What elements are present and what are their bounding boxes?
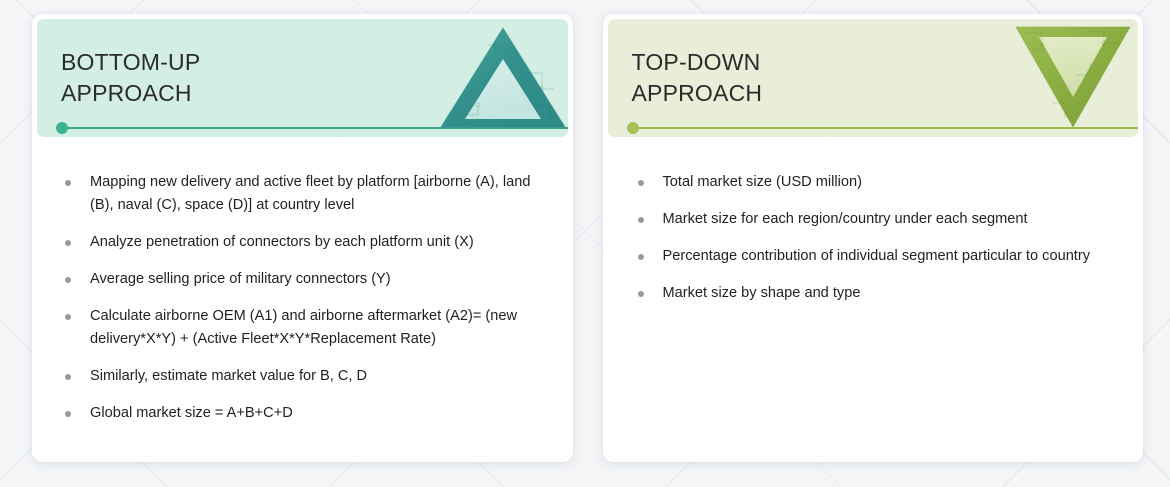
list-item: Total market size (USD million) [633, 171, 1114, 194]
panel-top-down-title: TOP-DOWN APPROACH [632, 47, 763, 109]
list-item: Mapping new delivery and active fleet by… [60, 171, 539, 217]
bullet-dot-icon [65, 411, 71, 417]
list-item-text: Mapping new delivery and active fleet by… [90, 174, 530, 213]
list-item-text: Market size for each region/country unde… [663, 211, 1028, 227]
list-item: Market size for each region/country unde… [633, 208, 1114, 231]
panel-top-down: TOP-DOWN APPROACH [603, 14, 1144, 462]
panel-bottom-up-title: BOTTOM-UP APPROACH [61, 47, 200, 109]
accent-dot-icon [627, 122, 639, 134]
panel-top-down-body: Total market size (USD million) Market s… [603, 137, 1144, 462]
panel-bottom-up-body: Mapping new delivery and active fleet by… [32, 137, 573, 462]
list-item: Market size by shape and type [633, 282, 1114, 305]
list-item-text: Total market size (USD million) [663, 174, 863, 190]
list-item-text: Global market size = A+B+C+D [90, 405, 293, 421]
bullet-dot-icon [638, 291, 644, 297]
panel-bottom-up-header: BOTTOM-UP APPROACH [37, 19, 568, 137]
bottom-up-bullet-list: Mapping new delivery and active fleet by… [60, 171, 539, 425]
bullet-dot-icon [638, 217, 644, 223]
approach-comparison-board: BOTTOM-UP APPROACH [0, 0, 1170, 487]
panel-top-down-header: TOP-DOWN APPROACH [608, 19, 1139, 137]
bullet-dot-icon [65, 374, 71, 380]
list-item: Similarly, estimate market value for B, … [60, 365, 539, 388]
bullet-dot-icon [65, 314, 71, 320]
list-item: Percentage contribution of individual se… [633, 245, 1114, 268]
top-down-bullet-list: Total market size (USD million) Market s… [633, 171, 1114, 305]
list-item-text: Analyze penetration of connectors by eac… [90, 234, 474, 250]
list-item: Calculate airborne OEM (A1) and airborne… [60, 305, 539, 351]
bullet-dot-icon [65, 180, 71, 186]
list-item: Global market size = A+B+C+D [60, 402, 539, 425]
bullet-dot-icon [65, 240, 71, 246]
list-item-text: Market size by shape and type [663, 285, 861, 301]
list-item: Average selling price of military connec… [60, 268, 539, 291]
list-item-text: Percentage contribution of individual se… [663, 248, 1091, 264]
list-item-text: Similarly, estimate market value for B, … [90, 368, 367, 384]
list-item-text: Calculate airborne OEM (A1) and airborne… [90, 308, 517, 347]
panel-bottom-up: BOTTOM-UP APPROACH [32, 14, 573, 462]
accent-dot-icon [56, 122, 68, 134]
bullet-dot-icon [638, 180, 644, 186]
list-item: Analyze penetration of connectors by eac… [60, 231, 539, 254]
triangle-down-icon [1008, 19, 1138, 131]
bullet-dot-icon [65, 277, 71, 283]
list-item-text: Average selling price of military connec… [90, 271, 391, 287]
triangle-up-icon [438, 19, 568, 131]
bullet-dot-icon [638, 254, 644, 260]
